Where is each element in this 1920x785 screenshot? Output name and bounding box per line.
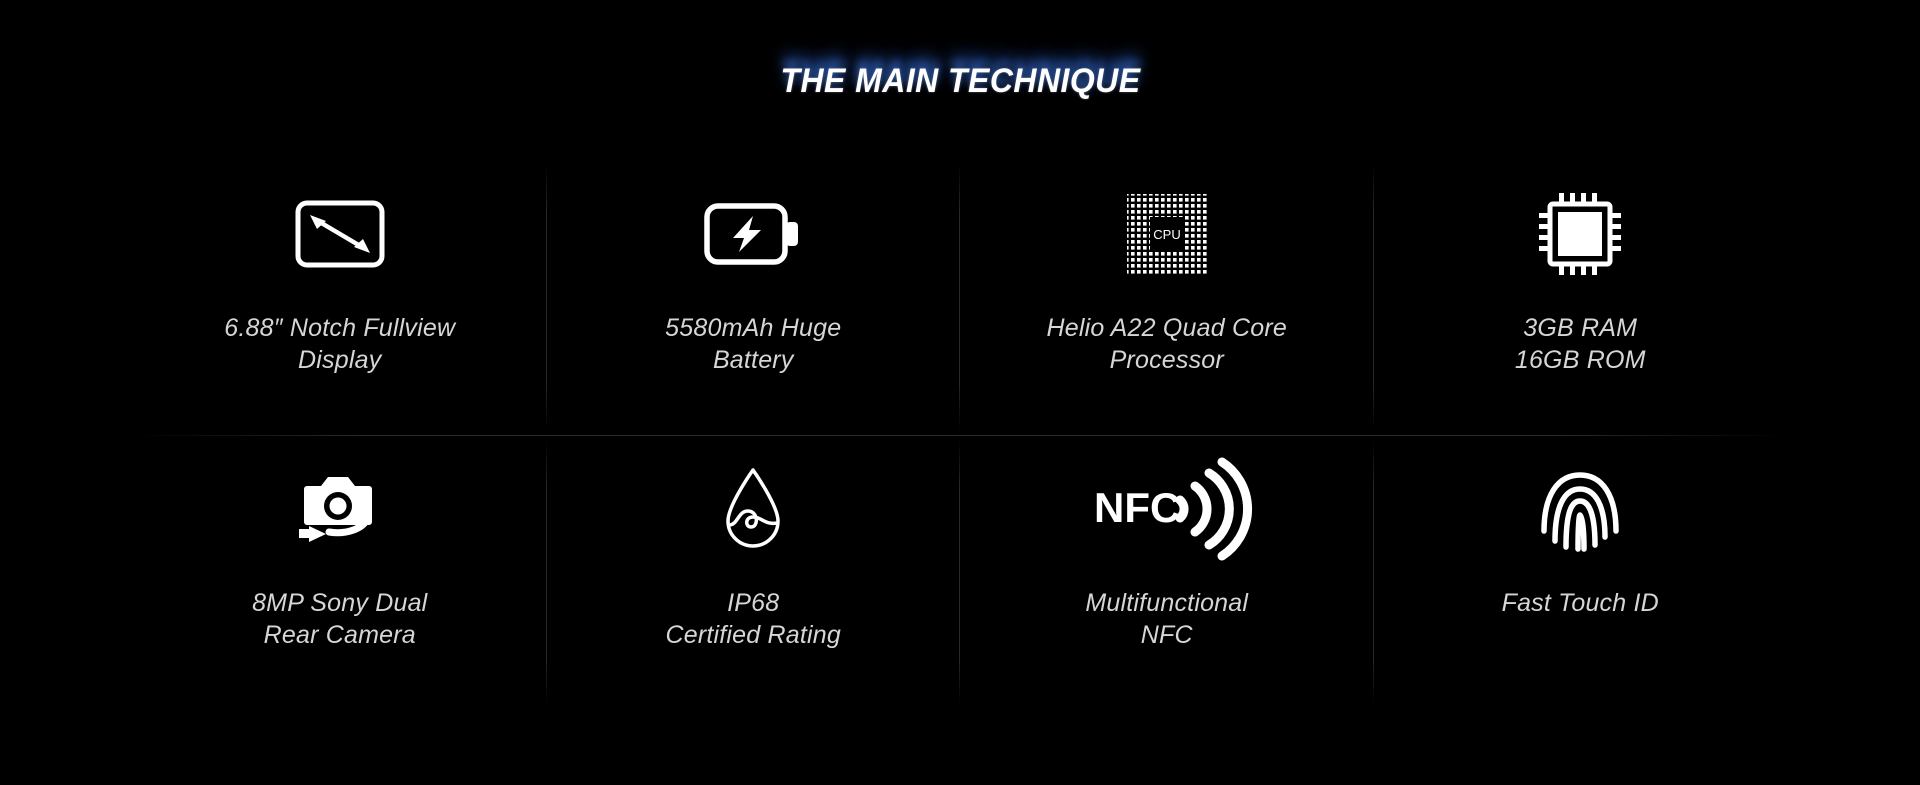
feature-label: 5580mAh Huge Battery	[665, 312, 841, 376]
feature-label: Fast Touch ID	[1502, 587, 1659, 619]
feature-card-processor[interactable]: CPU Helio A22 Quad Core Processor	[960, 160, 1374, 435]
camera-rotate-icon	[293, 463, 387, 555]
header: THE MAIN TECHNIQUE	[0, 0, 1920, 101]
feature-card-memory[interactable]: 3GB RAM 16GB ROM	[1374, 160, 1788, 435]
feature-card-waterproof[interactable]: IP68 Certified Rating	[547, 435, 961, 710]
nfc-icon-text: NFC	[1094, 484, 1180, 531]
feature-card-camera[interactable]: 8MP Sony Dual Rear Camera	[133, 435, 547, 710]
cpu-icon-text: CPU	[1153, 227, 1180, 242]
screen-diagonal-icon	[294, 188, 386, 280]
feature-label: 6.88″ Notch Fullview Display	[224, 312, 455, 376]
battery-bolt-icon	[703, 188, 803, 280]
feature-label: 8MP Sony Dual Rear Camera	[252, 587, 427, 651]
feature-card-display[interactable]: 6.88″ Notch Fullview Display	[133, 160, 547, 435]
feature-label: IP68 Certified Rating	[665, 587, 841, 651]
feature-label: Helio A22 Quad Core Processor	[1046, 312, 1287, 376]
feature-label: 3GB RAM 16GB ROM	[1515, 312, 1646, 376]
fingerprint-icon	[1538, 463, 1622, 555]
feature-grid: 6.88″ Notch Fullview Display 5580mAh Hug…	[133, 160, 1787, 710]
feature-card-nfc[interactable]: NFC Multifunctional NFC	[960, 435, 1374, 710]
feature-card-battery[interactable]: 5580mAh Huge Battery	[547, 160, 961, 435]
memory-chip-icon	[1537, 188, 1623, 280]
nfc-waves-icon: NFC	[1092, 463, 1242, 555]
feature-card-fingerprint[interactable]: Fast Touch ID	[1374, 435, 1788, 710]
cpu-chip-icon: CPU	[1125, 188, 1209, 280]
water-drop-icon	[718, 463, 788, 555]
feature-label: Multifunctional NFC	[1085, 587, 1248, 651]
page-title: THE MAIN TECHNIQUE	[780, 62, 1140, 101]
